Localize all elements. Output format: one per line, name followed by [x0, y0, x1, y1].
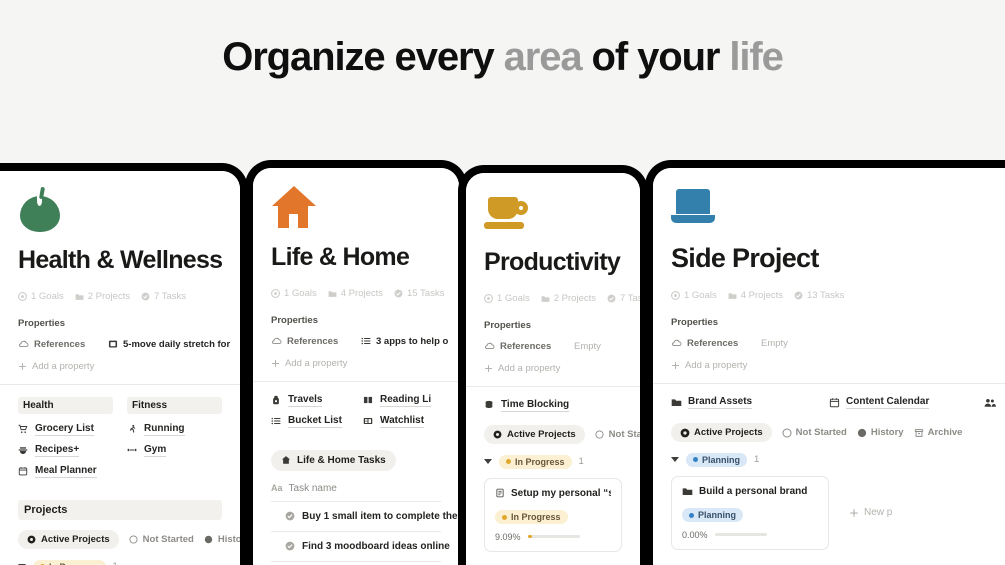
link-label: Meal Planner [35, 465, 97, 478]
tab-label: Not Started [796, 427, 847, 438]
project-progress-value: 9.09% [495, 532, 521, 542]
card-meta-productivity: 1 Goals 2 Projects 7 Tasks [484, 293, 622, 304]
new-project-label: New p [864, 507, 892, 518]
card-life-home[interactable]: Life & Home 1 Goals 4 Projects 15 Tasks … [245, 160, 467, 565]
meta-tasks: 7 Tasks [607, 293, 640, 304]
group-header-in-progress[interactable]: In Progress 1 [18, 560, 222, 565]
column-heading-fitness: Fitness [127, 397, 222, 414]
divider [0, 384, 240, 385]
coffee-cup-icon [484, 189, 530, 235]
people-icon[interactable] [984, 397, 995, 408]
link-travels[interactable]: Travels [271, 394, 349, 407]
plus-icon [849, 508, 859, 518]
database-pill-life-home-tasks[interactable]: Life & Home Tasks [271, 450, 396, 471]
link-label: Bucket List [288, 415, 342, 428]
gear-icon [27, 535, 36, 544]
property-label-references: References [500, 341, 551, 352]
check-circle-icon [394, 289, 403, 298]
gear-icon [493, 430, 502, 439]
meta-projects-label: 4 Projects [741, 290, 783, 301]
circle-icon [782, 428, 791, 437]
status-badge-label: In Progress [515, 457, 565, 467]
link-label: Reading Li [380, 394, 431, 407]
screenshot-stage: Organize every area of your life Health … [0, 0, 1005, 565]
project-status-label: In Progress [511, 512, 561, 522]
circle-icon [595, 430, 604, 439]
database-icon [484, 400, 495, 411]
link-grocery-list[interactable]: Grocery List [18, 423, 113, 436]
task-table-header: Aa Task name [271, 483, 441, 502]
blue-laptop-icon [671, 184, 717, 230]
card-productivity-content: Productivity 1 Goals 2 Projects 7 Tasks … [466, 173, 640, 565]
properties-heading: Properties [484, 320, 622, 331]
plus-icon [18, 362, 27, 371]
green-apple-icon [18, 187, 64, 233]
bowl-icon [18, 445, 29, 456]
link-gym[interactable]: Gym [127, 444, 222, 457]
tab-history[interactable]: History [857, 423, 904, 442]
meta-tasks-label: 7 Tasks [620, 293, 640, 304]
link-bucket-list[interactable]: Bucket List [271, 415, 349, 428]
tab-not-started[interactable]: Not Started [782, 423, 847, 442]
property-value-references[interactable]: Empty [761, 338, 788, 349]
headline-muted-area: area [504, 35, 582, 79]
image-icon [108, 339, 119, 350]
project-status-label: Planning [698, 510, 736, 520]
properties-heading: Properties [271, 315, 441, 326]
meta-projects: 4 Projects [328, 288, 383, 299]
card-productivity[interactable]: Productivity 1 Goals 2 Projects 7 Tasks … [458, 165, 648, 565]
check-circle-icon [794, 291, 803, 300]
card-meta-health-wellness: 1 Goals 2 Projects 7 Tasks [18, 291, 222, 302]
link-column-fitness: Fitness Running Gym [127, 397, 222, 486]
target-icon [484, 294, 493, 303]
references-value-text: Empty [574, 341, 601, 352]
add-a-property-button[interactable]: Add a property [671, 360, 995, 371]
add-a-property-label: Add a property [498, 363, 560, 374]
meta-tasks: 13 Tasks [794, 290, 844, 301]
runner-icon [127, 424, 138, 435]
tab-archive[interactable]: Archive [914, 423, 963, 442]
tab-not-started[interactable]: Not Started [129, 530, 194, 549]
link-time-blocking[interactable]: Time Blocking [484, 399, 622, 412]
link-columns-health: Health Grocery List Recipes+ Meal Planne… [18, 397, 222, 486]
meta-projects-label: 4 Projects [341, 288, 383, 299]
card-health-wellness[interactable]: Health & Wellness 1 Goals 2 Projects 7 T… [0, 163, 248, 565]
folder-icon [671, 397, 682, 408]
project-title: Setup my personal “second brain” [511, 488, 611, 499]
check-circle-icon [141, 292, 150, 301]
page-title: Organize every area of your life [0, 34, 1005, 80]
card-side-project-content: Side Project 1 Goals 4 Projects 13 Tasks… [653, 168, 1005, 565]
meta-goals-label: 1 Goals [284, 288, 317, 299]
property-label-references: References [687, 338, 738, 349]
meta-goals-label: 1 Goals [497, 293, 530, 304]
headline-part-1: Organize every [222, 35, 503, 79]
task-row[interactable]: Pick a spot with natural light [271, 562, 441, 565]
aa-icon: Aa [271, 483, 283, 493]
group-count: 1 [754, 454, 759, 465]
calendar-icon [18, 466, 29, 477]
meta-tasks-label: 7 Tasks [154, 291, 186, 302]
meta-tasks-label: 15 Tasks [407, 288, 444, 299]
card-title-side-project: Side Project [671, 244, 995, 274]
link-running[interactable]: Running [127, 423, 222, 436]
tab-label: Not Started [609, 429, 640, 440]
status-badge: Planning [686, 453, 747, 467]
folder-icon [682, 486, 693, 497]
project-status-badge: Planning [682, 508, 743, 522]
folder-icon [728, 291, 737, 300]
cart-icon [18, 424, 29, 435]
card-title-productivity: Productivity [484, 249, 622, 277]
references-value-text: Empty [761, 338, 788, 349]
status-badge-label: Planning [702, 455, 740, 465]
link-label: Grocery List [35, 423, 94, 436]
tabs-projects-productivity: Active Projects Not Started H [484, 425, 622, 444]
project-title: Build a personal brand [699, 486, 807, 497]
property-label-references: References [287, 336, 338, 347]
link-brand-assets[interactable]: Brand Assets [671, 396, 829, 409]
add-a-property-button[interactable]: Add a property [484, 363, 622, 374]
link-column-right: Reading Li Watchlist [363, 394, 441, 436]
group-header-in-progress[interactable]: In Progress 1 [484, 455, 622, 469]
cloud-icon [18, 339, 29, 350]
property-value-references[interactable]: 3 apps to help o [361, 336, 448, 347]
backpack-icon [271, 395, 282, 406]
tab-active-projects[interactable]: Active Projects [671, 423, 772, 442]
meta-tasks: 15 Tasks [394, 288, 444, 299]
properties-heading: Properties [18, 318, 222, 329]
plus-icon [271, 359, 280, 368]
link-label: Watchlist [380, 415, 424, 428]
tab-label: History [871, 427, 904, 438]
tab-label: Archive [928, 427, 963, 438]
property-label-references: References [34, 339, 85, 350]
tab-label: Active Projects [507, 429, 576, 440]
meta-projects-label: 2 Projects [554, 293, 596, 304]
chevron-down-icon[interactable] [671, 457, 679, 462]
orange-house-icon [271, 184, 317, 230]
new-project-button[interactable]: New p [839, 476, 995, 550]
progress-bar [528, 535, 580, 538]
project-status-badge: In Progress [495, 510, 568, 524]
link-label: Travels [288, 394, 322, 407]
target-icon [18, 292, 27, 301]
folder-icon [541, 294, 550, 303]
status-badge: In Progress [499, 455, 572, 469]
link-columns-life-home: Travels Bucket List Reading Li Watchlist [271, 394, 441, 436]
chevron-down-icon[interactable] [484, 459, 492, 464]
target-icon [271, 289, 280, 298]
property-references[interactable]: References Empty [671, 338, 995, 349]
link-recipes[interactable]: Recipes+ [18, 444, 113, 457]
circle-icon [129, 535, 138, 544]
plus-icon [671, 361, 680, 370]
book-icon [363, 395, 374, 406]
check-circle-icon[interactable] [285, 541, 295, 552]
cloud-icon [271, 336, 282, 347]
meta-goals: 1 Goals [484, 293, 530, 304]
divider [253, 381, 459, 382]
tab-label: Not Started [143, 534, 194, 545]
project-progress-value: 0.00% [682, 530, 708, 540]
status-badge: In Progress [33, 560, 106, 565]
property-value-references[interactable]: 5-move daily stretch for [108, 339, 230, 350]
column-heading-health: Health [18, 397, 113, 414]
status-badge-label: In Progress [49, 562, 99, 565]
link-column-health: Health Grocery List Recipes+ Meal Planne… [18, 397, 113, 486]
link-label: Gym [144, 444, 166, 457]
link-meal-planner[interactable]: Meal Planner [18, 465, 113, 478]
page-icon [495, 488, 505, 499]
card-health-wellness-content: Health & Wellness 1 Goals 2 Projects 7 T… [0, 171, 240, 565]
group-count: 1 [579, 456, 584, 467]
meta-projects-label: 2 Projects [88, 291, 130, 302]
cloud-icon [484, 341, 495, 352]
tab-not-started[interactable]: Not Started [595, 425, 640, 444]
filled-circle-icon [204, 535, 213, 544]
link-label: Content Calendar [846, 396, 929, 409]
link-label: Recipes+ [35, 444, 79, 457]
divider [653, 383, 1005, 384]
group-header-planning[interactable]: Planning 1 [671, 453, 995, 467]
card-title-health-wellness: Health & Wellness [18, 247, 222, 275]
task-name-column-header: Task name [289, 483, 337, 494]
check-circle-icon [607, 294, 616, 303]
add-a-property-button[interactable]: Add a property [18, 361, 222, 372]
references-value-text: 5-move daily stretch for [123, 339, 230, 350]
target-icon [671, 291, 680, 300]
calendar-icon [829, 397, 840, 408]
add-a-property-label: Add a property [685, 360, 747, 371]
meta-tasks-label: 13 Tasks [807, 290, 844, 301]
archive-icon [914, 428, 923, 437]
check-circle-icon[interactable] [285, 511, 295, 522]
list-icon [271, 416, 282, 427]
link-watchlist[interactable]: Watchlist [363, 415, 441, 428]
meta-goals: 1 Goals [271, 288, 317, 299]
link-label: Time Blocking [501, 399, 569, 412]
meta-projects: 4 Projects [728, 290, 783, 301]
filled-circle-icon [857, 428, 866, 437]
project-card[interactable]: Build a personal brand Planning 0.00% [671, 476, 829, 550]
link-column-left: Travels Bucket List [271, 394, 349, 436]
meta-projects: 2 Projects [75, 291, 130, 302]
folder-icon [328, 289, 337, 298]
task-label: Buy 1 small item to complete the vibe [302, 511, 459, 522]
card-side-project[interactable]: Side Project 1 Goals 4 Projects 13 Tasks… [645, 160, 1005, 565]
meta-goals: 1 Goals [671, 290, 717, 301]
link-reading-list[interactable]: Reading Li [363, 394, 441, 407]
cloud-icon [671, 338, 682, 349]
task-row[interactable]: Find 3 moodboard ideas online [271, 532, 441, 562]
project-card[interactable]: Setup my personal “second brain” In Prog… [484, 478, 622, 552]
card-title-life-home: Life & Home [271, 244, 441, 272]
task-row[interactable]: Buy 1 small item to complete the vibe [271, 502, 441, 532]
link-content-calendar[interactable]: Content Calendar [829, 396, 984, 409]
house-icon [281, 455, 291, 465]
property-value-references[interactable]: Empty [574, 341, 601, 352]
meta-projects: 2 Projects [541, 293, 596, 304]
plus-icon [484, 364, 493, 373]
film-icon [363, 416, 374, 427]
headline-part-2: of your [582, 35, 730, 79]
add-a-property-button[interactable]: Add a property [271, 358, 441, 369]
tabs-projects-side: Active Projects Not Started History Arch… [671, 423, 995, 442]
task-label: Find 3 moodboard ideas online [302, 541, 450, 552]
properties-heading: Properties [671, 317, 995, 328]
card-meta-life-home: 1 Goals 4 Projects 15 Tasks [271, 288, 441, 299]
tab-label: History [218, 534, 240, 545]
references-value-text: 3 apps to help o [376, 336, 448, 347]
tab-history[interactable]: History [204, 530, 240, 549]
add-a-property-label: Add a property [32, 361, 94, 372]
tabs-projects-health: Active Projects Not Started History Arch… [18, 530, 222, 549]
tab-active-projects[interactable]: Active Projects [18, 530, 119, 549]
headline-muted-life: life [729, 35, 782, 79]
database-pill-label: Life & Home Tasks [297, 455, 386, 466]
card-life-home-content: Life & Home 1 Goals 4 Projects 15 Tasks … [253, 168, 459, 565]
tab-label: Active Projects [694, 427, 763, 438]
link-label: Brand Assets [688, 396, 752, 409]
meta-tasks: 7 Tasks [141, 291, 186, 302]
property-references[interactable]: References Empty [484, 341, 622, 352]
meta-goals: 1 Goals [18, 291, 64, 302]
list-icon [361, 336, 372, 347]
card-meta-side-project: 1 Goals 4 Projects 13 Tasks [671, 290, 995, 301]
property-references[interactable]: References 5-move daily stretch for [18, 339, 222, 350]
folder-icon [75, 292, 84, 301]
add-a-property-label: Add a property [285, 358, 347, 369]
property-references[interactable]: References 3 apps to help o [271, 336, 441, 347]
group-count: 1 [113, 561, 118, 565]
section-heading-projects: Projects [18, 500, 222, 520]
link-label: Running [144, 423, 185, 436]
tab-label: Active Projects [41, 534, 110, 545]
divider [466, 386, 640, 387]
tab-active-projects[interactable]: Active Projects [484, 425, 585, 444]
meta-goals-label: 1 Goals [684, 290, 717, 301]
progress-bar [715, 533, 767, 536]
project-grid-side: Build a personal brand Planning 0.00% Ne… [671, 476, 995, 550]
meta-goals-label: 1 Goals [31, 291, 64, 302]
dumbbell-icon [127, 445, 138, 456]
gear-icon [680, 428, 689, 437]
